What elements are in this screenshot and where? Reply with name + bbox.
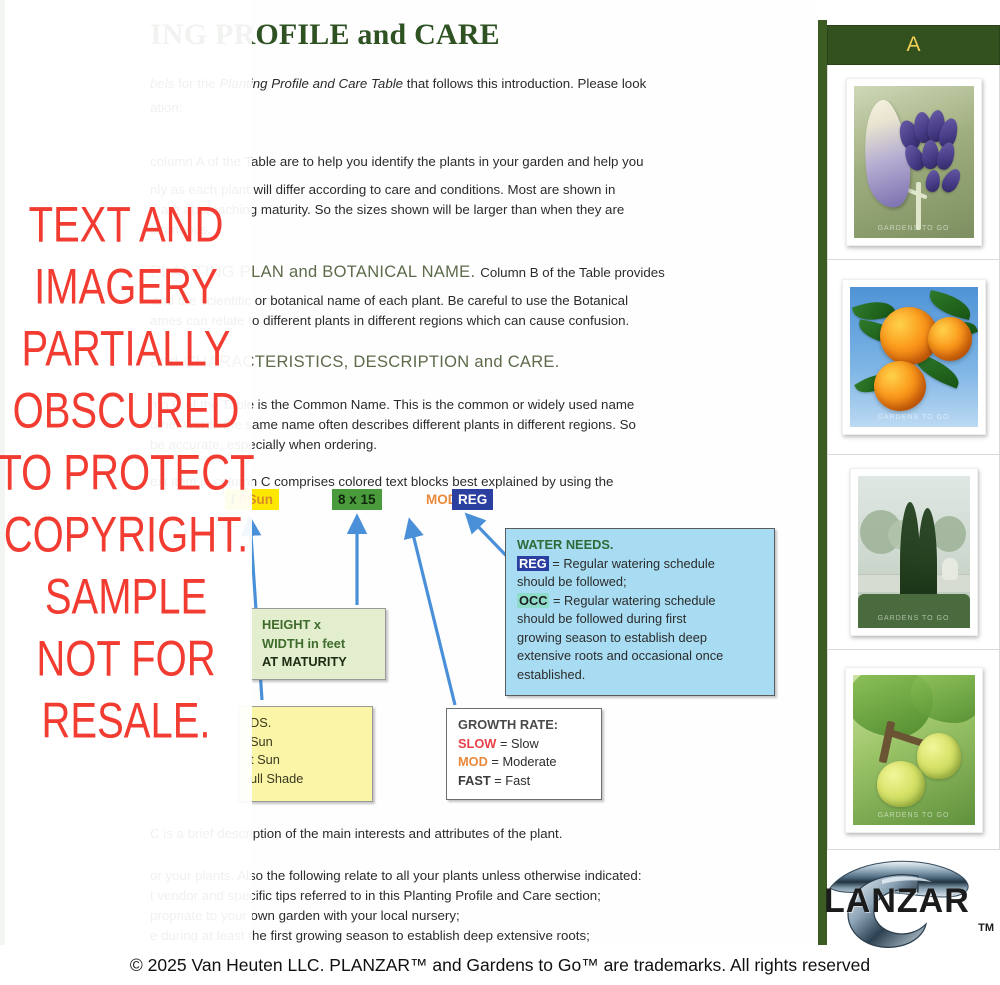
- growth-rate-fast: FAST = Fast: [458, 772, 592, 791]
- photo-watermark: GARDENS TO GO: [853, 812, 975, 819]
- sun-line-2: Sun: [250, 733, 363, 752]
- planzar-logo: LANZAR TM: [822, 830, 1000, 955]
- occ-text-2: should be followed during first: [517, 610, 765, 629]
- thumbnail-frame[interactable]: GARDENS TO GO: [842, 279, 986, 435]
- logo-tm-mark: TM: [978, 922, 994, 934]
- key-mod: MOD: [458, 754, 488, 769]
- callout-sun-needs: DS. Sun t Sun ull Shade: [238, 706, 373, 802]
- section-b-heading-tail: Column B of the Table provides: [480, 265, 665, 280]
- copyright-notice: © 2025 Van Heuten LLC. PLANZAR™ and Gard…: [130, 955, 870, 976]
- growth-rate-mod: MOD = Moderate: [458, 753, 592, 772]
- photo-watermark: GARDENS TO GO: [854, 225, 974, 232]
- water-needs-reg-line: REG = Regular watering schedule: [517, 555, 765, 574]
- thumbnail-frame[interactable]: GARDENS TO GO: [850, 468, 978, 636]
- reg-text-2: should be followed;: [517, 573, 765, 592]
- photo-watermark: GARDENS TO GO: [858, 615, 970, 622]
- fast-value: = Fast: [491, 773, 530, 788]
- sidebar-section-header-a: A: [827, 25, 1000, 65]
- size-line-2: WIDTH in feet: [262, 635, 376, 654]
- water-needs-heading: WATER NEEDS.: [517, 536, 765, 555]
- intro-line-1-tail: that follows this introduction. Please l…: [403, 76, 646, 91]
- growth-rate-heading: GROWTH RATE:: [458, 716, 592, 735]
- orange-fruit-photo[interactable]: GARDENS TO GO: [850, 287, 978, 427]
- water-needs-occ-line: OCC = Regular watering schedule: [517, 592, 765, 611]
- photo-watermark: GARDENS TO GO: [850, 414, 978, 421]
- sidebar-thumb-cell[interactable]: GARDENS TO GO: [827, 455, 1000, 650]
- watermark-line: TO PROTECT: [0, 438, 255, 508]
- page-root: ING PROFILE and CARE bels for the Planti…: [0, 0, 1000, 985]
- sidebar-thumb-cell[interactable]: GARDENS TO GO: [827, 65, 1000, 260]
- size-line-1: HEIGHT x: [262, 616, 376, 635]
- key-fast: FAST: [458, 773, 491, 788]
- sun-line-4: ull Shade: [250, 770, 363, 789]
- mod-value: = Moderate: [488, 754, 557, 769]
- sidebar-green-rail: [818, 20, 827, 945]
- plant-thumbnail-sidebar: A GARDENS TO GO: [818, 0, 1000, 945]
- size-line-3: AT MATURITY: [262, 653, 376, 672]
- watermark-line: IMAGERY: [34, 252, 218, 322]
- occ-text-1: = Regular watering schedule: [549, 593, 715, 608]
- agapanthus-flower-photo[interactable]: GARDENS TO GO: [854, 86, 974, 238]
- sidebar-thumb-cell[interactable]: GARDENS TO GO: [827, 650, 1000, 850]
- sidebar-thumb-cell[interactable]: GARDENS TO GO: [827, 260, 1000, 455]
- occ-text-4: extensive roots and occasional once: [517, 647, 765, 666]
- fig-fruit-photo[interactable]: GARDENS TO GO: [853, 675, 975, 825]
- watermark-line: COPYRIGHT.: [4, 500, 248, 570]
- watermark-line: OBSCURED: [13, 376, 240, 446]
- logo-wordmark: LANZAR: [824, 882, 970, 921]
- occ-text-5: established.: [517, 666, 765, 685]
- watermark-line: SAMPLE: [45, 562, 207, 632]
- growth-rate-slow: SLOW = Slow: [458, 735, 592, 754]
- sun-line-1: DS.: [250, 714, 363, 733]
- sun-line-3: t Sun: [250, 751, 363, 770]
- sidebar-header-letter: A: [906, 33, 920, 57]
- key-slow: SLOW: [458, 736, 496, 751]
- watermark-line: RESALE.: [42, 686, 211, 756]
- thumbnail-frame[interactable]: GARDENS TO GO: [845, 667, 983, 833]
- reg-text-1: = Regular watering schedule: [549, 556, 715, 571]
- callout-water-needs: WATER NEEDS. REG = Regular watering sche…: [505, 528, 775, 696]
- callout-size: HEIGHT x WIDTH in feet AT MATURITY: [250, 608, 386, 680]
- italian-cypress-photo[interactable]: GARDENS TO GO: [858, 476, 970, 628]
- key-occ: OCC: [517, 593, 549, 608]
- badge-water-needs: REG: [452, 489, 493, 510]
- thumbnail-frame[interactable]: GARDENS TO GO: [846, 78, 982, 246]
- watermark-line: NOT FOR: [36, 624, 215, 694]
- copyright-watermark-overlay: TEXT AND IMAGERY PARTIALLY OBSCURED TO P…: [0, 0, 252, 945]
- slow-value: = Slow: [496, 736, 538, 751]
- key-reg: REG: [517, 556, 549, 571]
- badge-size: 8 x 15: [332, 489, 382, 510]
- callout-growth-rate: GROWTH RATE: SLOW = Slow MOD = Moderate …: [446, 708, 602, 800]
- watermark-line: PARTIALLY: [22, 314, 231, 384]
- occ-text-3: growing season to establish deep: [517, 629, 765, 648]
- watermark-line: TEXT AND: [29, 190, 224, 260]
